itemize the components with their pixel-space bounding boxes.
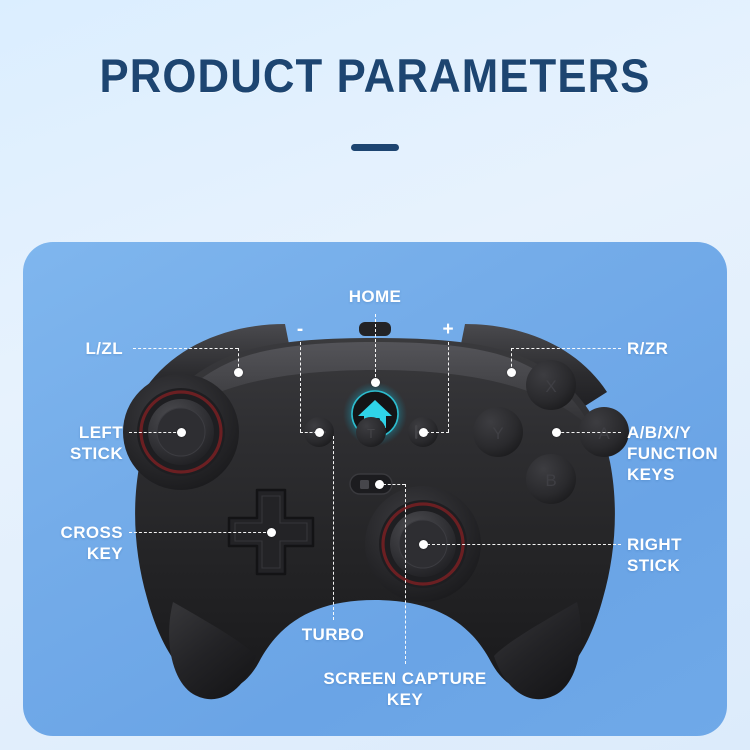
leader-capture-horizontal [383, 484, 405, 485]
leader-capture-vertical [405, 484, 406, 664]
anchor-dot-home [371, 378, 380, 387]
anchor-dot-l-zl [234, 368, 243, 377]
callout-label-l-zl: L/ZL [23, 338, 123, 359]
anchor-dot-right-stick [419, 540, 428, 549]
anchor-dot-cross-key [267, 528, 276, 537]
callout-label-r-zr: R/ZR [627, 338, 727, 359]
callout-label-turbo: TURBO [283, 624, 383, 645]
center-small-buttons: T [304, 417, 438, 447]
leader-plus-vertical [448, 342, 449, 432]
anchor-dot-capture [375, 480, 384, 489]
callout-label-screen-capture: SCREEN CAPTURE KEY [305, 668, 505, 710]
leader-minus-vertical [300, 342, 301, 432]
anchor-dot-function-keys [552, 428, 561, 437]
svg-text:T: T [367, 426, 375, 441]
callout-label-function-keys: A/B/X/Y FUNCTION KEYS [627, 422, 727, 485]
callout-label-minus: - [285, 320, 315, 339]
anchor-dot-r-zr [507, 368, 516, 377]
leader-plus-horizontal [426, 432, 449, 433]
leader-r-zr-horizontal [511, 348, 621, 349]
anchor-dot-minus [315, 428, 324, 437]
callout-label-left-stick: LEFT STICK [23, 422, 123, 464]
callout-label-cross-key: CROSS KEY [23, 522, 123, 564]
svg-text:A: A [598, 424, 610, 443]
page-title: PRODUCT PARAMETERS [26, 48, 724, 103]
diagram-panel: X Y A B T [23, 242, 727, 736]
anchor-dot-left-stick [177, 428, 186, 437]
leader-cross-key [129, 532, 271, 533]
leader-l-zl-horizontal [133, 348, 238, 349]
header: PRODUCT PARAMETERS [0, 0, 750, 242]
leader-right-stick [427, 544, 621, 545]
leader-home [375, 314, 376, 382]
anchor-dot-plus [419, 428, 428, 437]
svg-text:Y: Y [492, 424, 503, 443]
title-divider [351, 144, 399, 151]
callout-label-plus: + [433, 320, 463, 339]
svg-text:X: X [545, 377, 556, 396]
leader-left-stick [129, 432, 181, 433]
leader-turbo [333, 436, 334, 620]
svg-text:B: B [545, 471, 556, 490]
callout-label-home: HOME [325, 286, 425, 307]
callout-label-right-stick: RIGHT STICK [627, 534, 727, 576]
leader-function-keys [556, 432, 621, 433]
